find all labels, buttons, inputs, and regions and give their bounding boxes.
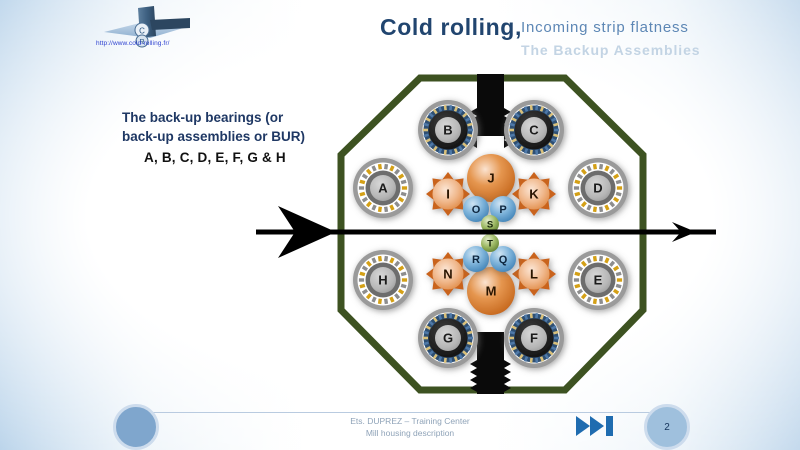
roller-label: S	[487, 219, 493, 230]
roller-label: P	[499, 204, 506, 216]
footer-credit: Ets. DUPREZ – Training Center Mill housi…	[250, 415, 570, 439]
backup-assembly-f[interactable]: F	[504, 308, 564, 368]
roller-label: C	[529, 123, 539, 138]
roller-label: Q	[499, 254, 508, 266]
roller-label: B	[443, 123, 452, 138]
backup-assembly-h[interactable]: H	[353, 250, 413, 310]
strip-roller-t[interactable]: T	[481, 234, 499, 252]
roller-label: H	[378, 273, 387, 288]
intermediate-roller-k[interactable]: K	[512, 172, 556, 216]
footer-decor-circle-left	[113, 404, 159, 450]
roller-label: O	[472, 204, 481, 216]
roller-label: E	[594, 273, 603, 288]
roller-label: K	[529, 187, 539, 202]
footer-divider	[120, 412, 680, 413]
roller-label: J	[487, 171, 494, 186]
intermediate-roller-m[interactable]: M	[467, 267, 515, 315]
roller-label: I	[446, 187, 450, 202]
mill-housing-diagram: ABCDEFGH IJKLMN OPRQ ST	[0, 0, 800, 450]
backup-assembly-c[interactable]: C	[504, 100, 564, 160]
roller-label: N	[443, 267, 452, 282]
backup-assembly-a[interactable]: A	[353, 158, 413, 218]
roller-label: A	[378, 181, 388, 196]
roller-label: F	[530, 331, 538, 346]
backup-assembly-b[interactable]: B	[418, 100, 478, 160]
roller-label: R	[472, 254, 480, 266]
backup-assembly-g[interactable]: G	[418, 308, 478, 368]
roller-label: L	[530, 267, 538, 282]
page-number-text: 2	[644, 404, 690, 450]
backup-assembly-e[interactable]: E	[568, 250, 628, 310]
roller-label: M	[486, 284, 497, 299]
roller-label: G	[443, 331, 453, 346]
backup-assembly-d[interactable]: D	[568, 158, 628, 218]
roller-label: T	[487, 238, 493, 249]
intermediate-roller-j[interactable]: J	[467, 154, 515, 202]
roller-label: D	[593, 181, 602, 196]
footer-subject: Mill housing description	[250, 427, 570, 439]
footer-company: Ets. DUPREZ – Training Center	[250, 415, 570, 427]
intermediate-roller-l[interactable]: L	[512, 252, 556, 296]
skip-to-end-icon[interactable]	[575, 414, 617, 438]
